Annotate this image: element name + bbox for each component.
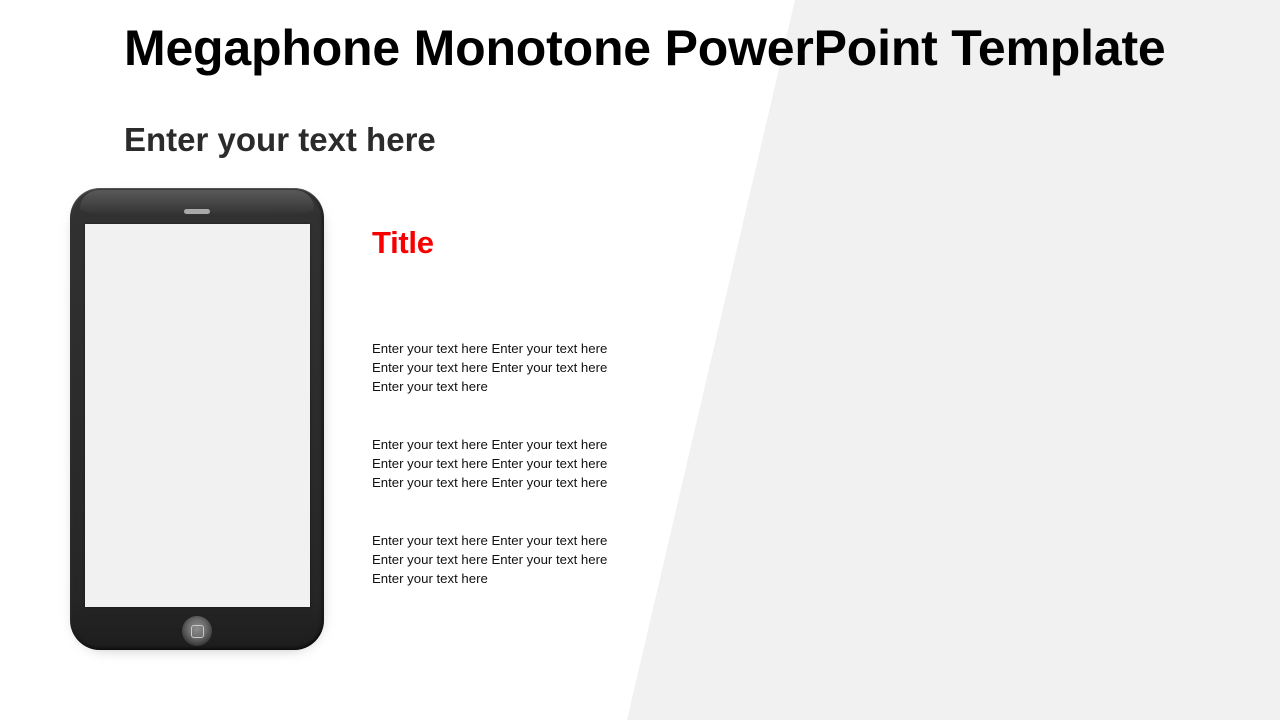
- phone-body: [70, 188, 324, 650]
- phone-screen-placeholder[interactable]: [85, 224, 310, 607]
- home-square-glyph: [191, 625, 204, 638]
- phone-speaker-slot: [184, 209, 210, 214]
- smartphone-mockup: [70, 188, 324, 650]
- home-button-icon[interactable]: [182, 616, 212, 646]
- slide-subtitle: Enter your text here: [124, 119, 436, 161]
- body-paragraph-3: Enter your text here Enter your text her…: [372, 531, 622, 589]
- slide-canvas: Megaphone Monotone PowerPoint Template E…: [0, 0, 1280, 720]
- text-column: Title Enter your text here Enter your te…: [372, 224, 624, 262]
- body-paragraph-1: Enter your text here Enter your text her…: [372, 339, 622, 397]
- page-title: Megaphone Monotone PowerPoint Template: [124, 18, 1134, 78]
- body-paragraph-2: Enter your text here Enter your text her…: [372, 435, 622, 493]
- column-title: Title: [372, 224, 624, 262]
